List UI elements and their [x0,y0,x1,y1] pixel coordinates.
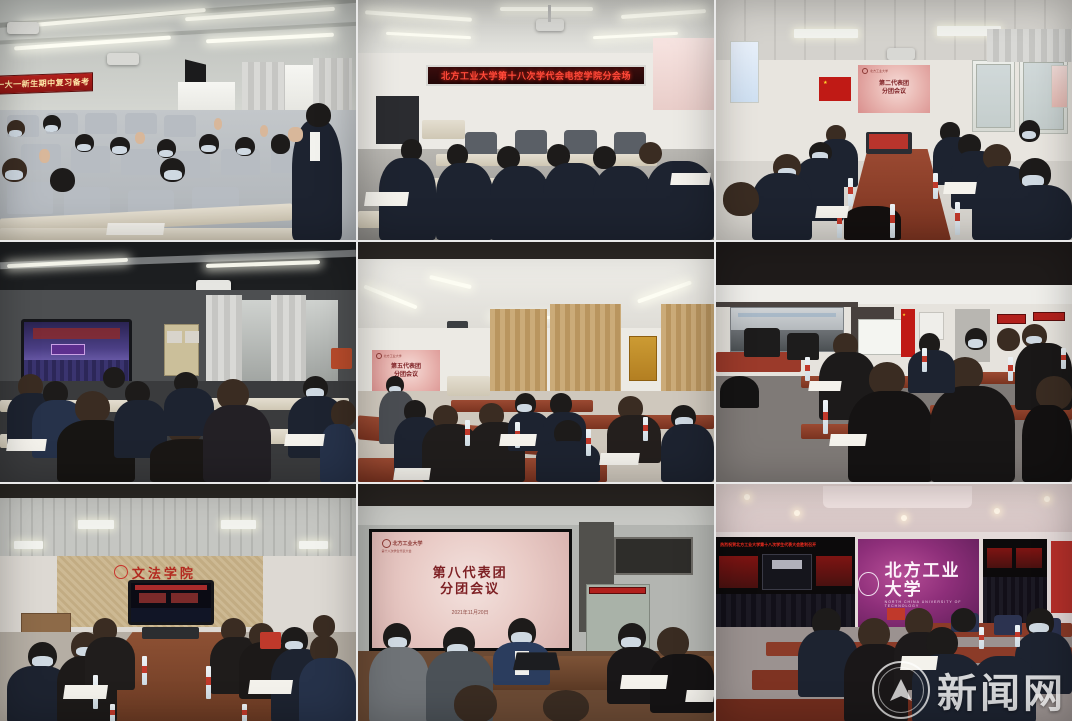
attendee-body [593,166,654,240]
attendee-body [369,647,430,721]
cabinet-label [589,587,646,594]
slide-sublogo: 第十八次学生代表大会 [382,549,412,553]
screen-tile [171,593,198,603]
document [393,468,430,480]
face-mask [237,148,251,155]
projector [7,22,39,34]
screen-audience [131,608,210,622]
college-crest-icon [114,565,128,579]
document [248,680,293,694]
window-curtain [661,304,714,390]
notice [185,331,199,343]
wall-slogan [1033,312,1065,322]
screen-tile [139,593,166,603]
attendee-body [908,350,954,393]
wall-slogan [997,314,1025,324]
photo-cell-bottom-center[interactable]: 北方工业大学 第十八次学生代表大会 第八代表团 分团会议 2021年11月20日 [358,484,714,721]
equipment-cabinet [376,96,419,144]
led-backdrop-en: NORTH CHINA UNIVERSITY OF TECHNOLOGY [885,600,980,608]
water-bottle [643,417,648,441]
water-bottle [848,178,853,207]
lecture-seat [465,132,497,156]
ceiling-light-panel [794,29,858,39]
led-tile [1016,548,1042,569]
screen-banner [738,313,837,317]
attendee [271,134,291,153]
speaker-head [306,103,331,127]
lecture-seat [7,182,53,213]
water-bottle [586,429,591,455]
red-garment [260,632,281,649]
speaker-hand [288,127,302,141]
attendee-body [930,386,1015,482]
document [500,434,537,446]
ceiling-light-panel [299,541,327,548]
document [63,685,108,699]
led-banner[interactable]: 北方工业大学第十八次学代会电控学院分会场 [426,65,647,87]
ceiling [0,498,356,560]
slide-logo: 北方工业大学 第十八次学生代表大会 [382,539,423,553]
water-bottle [1015,625,1020,647]
podium [422,120,465,139]
window-curtain [490,309,547,391]
ceiling-cove [823,486,973,508]
attendee [454,685,497,721]
lecture-seat [71,146,110,172]
window [653,38,714,110]
slide-title-1: 第八代表团 [433,565,508,581]
wall-banner-text: 一大一新生期中复习备考 [0,77,89,91]
document [685,690,714,702]
projector-mount [548,5,551,22]
water-bottle [979,627,984,649]
slide-title-2: 分团会议 [440,581,500,597]
led-tile [987,548,1013,569]
document [815,206,849,218]
attendee-body [299,658,356,721]
attendee-body [203,405,271,482]
document [106,223,165,235]
attendee [951,608,976,632]
water-bottle [1008,357,1013,381]
led-banner-text: 北方工业大学第十八次学代会电控学院分会场 [441,69,631,82]
university-crest-icon [858,572,878,596]
photo-cell-middle-left[interactable] [0,242,356,482]
ceiling-light [500,7,593,11]
led-tile [816,556,852,587]
led-ticker-text: 热烈祝贺北方工业大学第十八次学生代表大会胜利召开 [720,542,816,548]
photo-cell-top-right[interactable]: 北方工业大学 第二代表团 分团会议 ★ [716,0,1072,240]
photo-collage: 一大一新生期中复习备考 [0,0,1072,721]
foreground-shadow [716,242,1072,285]
window-curtain [271,295,307,391]
storage-cabinet [972,60,1015,132]
water-bottle [805,357,810,381]
face-mask [77,144,91,151]
university-crest-icon [382,539,391,548]
wall-poster [1051,65,1069,108]
attendee [723,182,759,216]
attendee-body [972,656,1036,721]
attendee-body [661,424,714,482]
stage-screen [51,344,84,355]
document [599,453,640,465]
dark-ceiling [0,242,356,295]
face-mask [5,170,23,180]
document [364,192,409,206]
slide-date: 2021年11月20日 [452,609,489,616]
foreground-shadow [358,242,714,259]
wall-plaque [629,336,657,382]
projector [107,53,139,65]
attendee-body [320,424,356,482]
window [242,300,270,386]
projector [887,48,915,60]
document [620,675,668,689]
attendee [997,328,1020,351]
window-blinds [987,29,1072,63]
raised-hand [214,118,223,130]
document [6,439,47,451]
party-flag: ★ [819,77,851,101]
photo-cell-middle-center[interactable]: 北方工业大学 第五代表团 分团会议 [358,242,714,482]
led-backdrop-cn: 北方工业大学 [885,561,980,600]
photo-cell-bottom-right[interactable]: 热烈祝贺北方工业大学第十八次学生代表大会胜利召开 北方工业大学 NORTH CH… [716,484,1072,721]
water-bottle [890,204,895,238]
attendee-body [752,173,813,240]
ceiling-light-panel [221,520,257,530]
document [829,434,866,446]
raised-hand [135,132,144,144]
document [670,173,711,185]
photo-cell-top-center[interactable]: 北方工业大学第十八次学代会电控学院分会场 [358,0,714,240]
raised-hand [39,149,50,163]
document [284,434,325,446]
led-logo-strip [772,560,803,570]
attendee [639,142,662,165]
attendee [50,168,75,192]
slide-logo: 北方工业大学 [862,68,888,74]
face-mask [164,170,182,180]
water-bottle [955,202,960,236]
livestream-content [131,583,210,622]
document [900,656,938,670]
attendee-body [490,166,551,240]
foreground-shadow [0,484,356,498]
photo-cell-bottom-left[interactable]: 文法学院 文法学院 [0,484,356,721]
photo-cell-middle-right[interactable]: ★ [716,242,1072,482]
podium [447,376,490,395]
wall-window [614,537,692,575]
attendee-body [436,163,493,240]
national-flag: ★ [901,309,915,357]
lecture-seat [85,113,117,135]
red-ribbon [887,608,905,620]
screen-banner [135,585,207,590]
office-chair [744,328,780,357]
water-bottle [142,656,147,685]
face-mask [517,404,532,412]
face-mask [968,339,983,347]
potted-plant [331,348,352,370]
display-screen[interactable] [128,580,213,625]
photo-cell-top-left[interactable]: 一大一新生期中复习备考 [0,0,356,240]
downlight [1044,496,1050,502]
shirt-collar [310,132,321,161]
water-bottle [823,400,828,434]
led-tile [719,556,758,589]
presentation-slide: 北方工业大学 第五代表团 分团会议 [372,350,440,393]
foreground-shadow [358,484,714,506]
lecture-seat [164,115,196,137]
laptop [513,653,560,671]
ceiling-light-panel [78,520,114,530]
conference-mic-unit [142,627,199,639]
attendee [103,367,124,389]
water-bottle [110,704,115,721]
screen-rail [716,302,858,307]
window-curtain [550,304,621,390]
document [808,381,841,391]
water-bottle [465,420,470,446]
document [943,182,977,194]
face-mask [112,146,126,153]
window-curtain [206,295,242,391]
face-mask [1022,131,1036,139]
face-mask [9,130,22,137]
lecture-seat [564,130,596,154]
office-chair [720,376,759,407]
attendee [313,615,334,637]
wall-banner: 一大一新生期中复习备考 [0,73,93,96]
slide-title-1: 第二代表团 [879,81,909,89]
face-mask [159,150,173,157]
face-mask [45,125,58,132]
presentation-slide: 北方工业大学 第二代表团 分团会议 [858,65,929,113]
lecture-seat [515,130,547,154]
side-door [1051,541,1072,613]
slide-logo: 北方工业大学 [376,353,402,359]
attendee [543,690,589,721]
water-bottle [242,704,247,721]
wall-notice-board [730,41,758,103]
slide-title-2: 分团会议 [882,89,906,97]
face-mask [201,145,215,152]
water-bottle [206,666,211,699]
stage-backdrop [33,328,121,339]
office-chair [787,333,819,359]
slide-title-1: 第五代表团 [391,364,421,372]
attendee-body [1022,405,1072,482]
attendee [331,400,356,426]
downlight [994,508,1000,514]
monitor-screen [869,134,908,148]
attendee-body [1008,185,1072,240]
raised-hand [260,125,269,137]
notice [167,331,181,343]
water-bottle [1061,348,1066,370]
water-bottle [922,348,927,372]
water-bottle [933,173,938,199]
ceiling-light-panel [14,541,42,548]
